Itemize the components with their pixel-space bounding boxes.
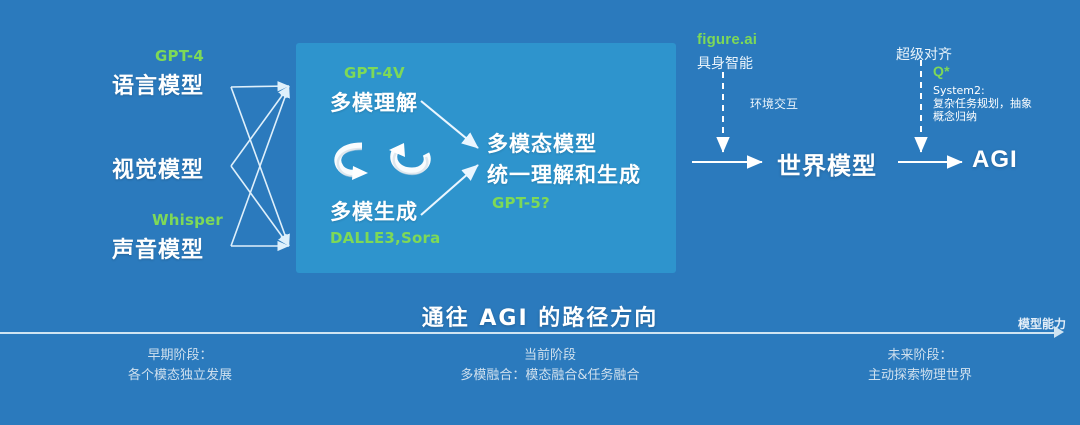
stage-caption-current: 当前阶段 多模融合：模态融合&任务融合: [400, 346, 700, 386]
progress-axis: [0, 332, 1060, 334]
stage-future-line2: 主动探索物理世界: [800, 366, 1040, 386]
stage-current-line1: 当前阶段: [400, 346, 700, 366]
stage-future-line1: 未来阶段：: [800, 346, 1040, 366]
page-title: 通往 AGI 的路径方向: [0, 300, 1080, 332]
diagram-canvas: GPT-4 语言模型 视觉模型 Whisper 声音模型: [0, 0, 1080, 425]
stage-caption-future: 未来阶段： 主动探索物理世界: [800, 346, 1040, 386]
stage-early-line2: 各个模态独立发展: [60, 366, 300, 386]
axis-arrow-icon: [1054, 326, 1064, 338]
stage-caption-early: 早期阶段： 各个模态独立发展: [60, 346, 300, 386]
stage-current-line2: 多模融合：模态融合&任务融合: [400, 366, 700, 386]
stage-early-line1: 早期阶段：: [60, 346, 300, 366]
